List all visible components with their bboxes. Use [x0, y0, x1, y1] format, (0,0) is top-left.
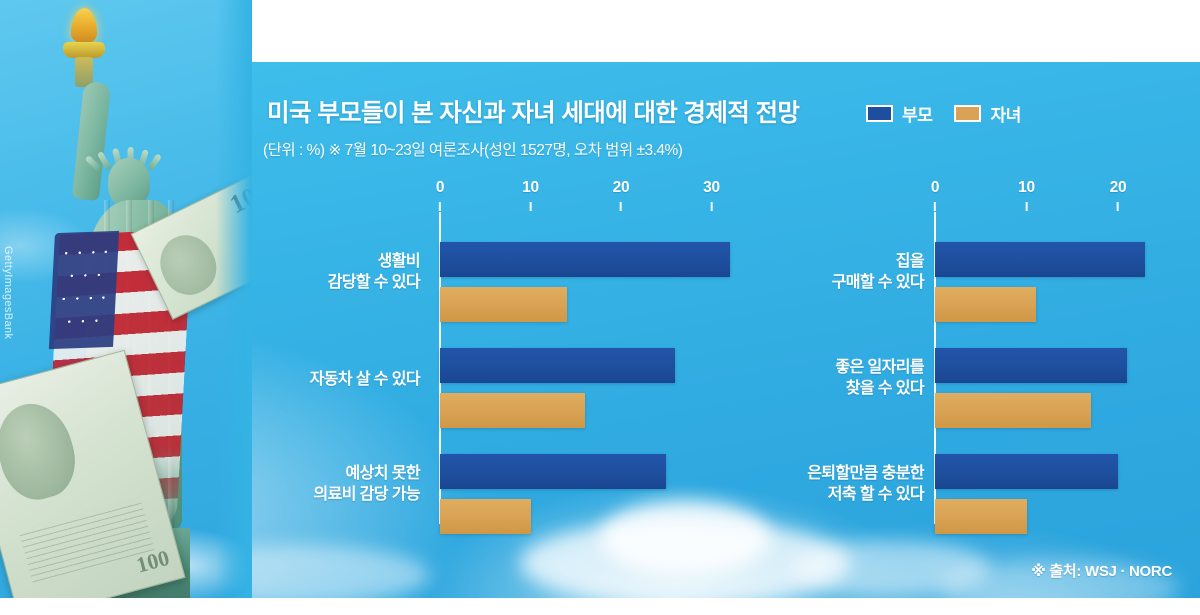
chart-category-group: 은퇴할만큼 충분한저축 할 수 있다 [762, 454, 1182, 560]
legend-item-parent: 부모 [866, 101, 932, 126]
bar-child [440, 393, 585, 428]
legend-label-child: 자녀 [990, 101, 1020, 126]
bar-parent [935, 242, 1145, 277]
axis-tick-mark [530, 202, 532, 211]
chart-category-label-line: 자동차 살 수 있다 [248, 370, 420, 391]
axis-tick: 0 [436, 180, 444, 211]
bar-parent [440, 454, 666, 489]
legend-item-child: 자녀 [954, 101, 1020, 126]
chart-category-label: 좋은 일자리를찾을 수 있다 [752, 358, 924, 400]
bar-parent [440, 348, 675, 383]
axis-tick: 20 [613, 180, 630, 211]
page-subtitle: (단위 : %) ※ 7월 10~23일 여론조사(성인 1527명, 오차 범… [263, 138, 682, 160]
axis-tick: 0 [931, 180, 939, 211]
axis-tick-mark [711, 202, 713, 211]
us-flag-canton [49, 231, 119, 349]
bar-child [935, 499, 1027, 534]
chart-category-label-line: 은퇴할만큼 충분한 [752, 464, 924, 485]
axis-tick-label: 30 [703, 180, 720, 196]
axis-tick-mark [934, 202, 936, 211]
chart-category-label-line: 찾을 수 있다 [752, 379, 924, 400]
axis-tick-label: 20 [613, 180, 630, 196]
chart-category-label: 생활비감당할 수 있다 [248, 252, 420, 294]
chart-category-label-line: 생활비 [248, 252, 420, 273]
axis-tick-mark [1026, 202, 1028, 211]
chart-category-label: 집을구매할 수 있다 [752, 252, 924, 294]
axis-tick: 30 [703, 180, 720, 211]
chart-x-axis: 01020 [762, 180, 1182, 220]
axis-tick: 20 [1110, 180, 1127, 211]
chart-category-group: 집을구매할 수 있다 [762, 242, 1182, 348]
axis-tick-label: 0 [436, 180, 444, 196]
chart-category-label: 예상치 못한의료비 감당 가능 [248, 464, 420, 506]
legend-label-parent: 부모 [902, 101, 932, 126]
chart-legend: 부모 자녀 [866, 101, 1021, 126]
chart-left-panel: 0102030생활비감당할 수 있다자동차 살 수 있다예상치 못한의료비 감당… [262, 180, 732, 530]
statue-of-liberty-photo [0, 0, 252, 615]
torch-cup [63, 42, 105, 58]
legend-swatch-parent [866, 105, 893, 122]
axis-tick-mark [1117, 202, 1119, 211]
chart-category-group: 예상치 못한의료비 감당 가능 [262, 454, 732, 560]
photo-credit-watermark: GettyImagesBank [2, 246, 14, 339]
infographic-canvas: GettyImagesBank 미국 부모들이 본 자신과 자녀 세대에 대한 … [0, 0, 1200, 615]
bar-child [935, 287, 1036, 322]
bottom-white-band [0, 598, 1200, 615]
bill-engraving-lines [19, 498, 155, 583]
axis-tick-label: 0 [931, 180, 939, 196]
chart-category-label-line: 집을 [752, 252, 924, 273]
axis-tick-mark [439, 202, 441, 211]
axis-tick: 10 [522, 180, 539, 211]
torch-flame-icon [71, 8, 97, 44]
chart-category-label-line: 구매할 수 있다 [752, 273, 924, 294]
bar-parent [935, 454, 1118, 489]
bar-child [440, 499, 531, 534]
source-attribution: ※ 출처: WSJ · NORC [1031, 560, 1172, 581]
bar-child [935, 393, 1091, 428]
bar-parent [935, 348, 1127, 383]
chart-x-axis: 0102030 [262, 180, 732, 220]
axis-tick: 10 [1018, 180, 1035, 211]
chart-category-label-line: 저축 할 수 있다 [752, 485, 924, 506]
chart-category-label: 자동차 살 수 있다 [248, 370, 420, 391]
chart-category-group: 자동차 살 수 있다 [262, 348, 732, 454]
bar-parent [440, 242, 730, 277]
chart-category-label: 은퇴할만큼 충분한저축 할 수 있다 [752, 464, 924, 506]
photo-edge-fade [216, 0, 252, 615]
axis-tick-label: 10 [1018, 180, 1035, 196]
chart-category-label-line: 감당할 수 있다 [248, 273, 420, 294]
axis-tick-mark [620, 202, 622, 211]
chart-category-group: 생활비감당할 수 있다 [262, 242, 732, 348]
legend-swatch-child [954, 105, 981, 122]
statue-arm [72, 81, 111, 201]
chart-right-panel: 01020집을구매할 수 있다좋은 일자리를찾을 수 있다은퇴할만큼 충분한저축… [762, 180, 1182, 530]
axis-tick-label: 20 [1110, 180, 1127, 196]
chart-category-label-line: 좋은 일자리를 [752, 358, 924, 379]
axis-tick-label: 10 [522, 180, 539, 196]
bar-child [440, 287, 567, 322]
chart-category-group: 좋은 일자리를찾을 수 있다 [762, 348, 1182, 454]
chart-category-label-line: 예상치 못한 [248, 464, 420, 485]
page-title: 미국 부모들이 본 자신과 자녀 세대에 대한 경제적 전망 [267, 94, 799, 129]
chart-category-label-line: 의료비 감당 가능 [248, 485, 420, 506]
